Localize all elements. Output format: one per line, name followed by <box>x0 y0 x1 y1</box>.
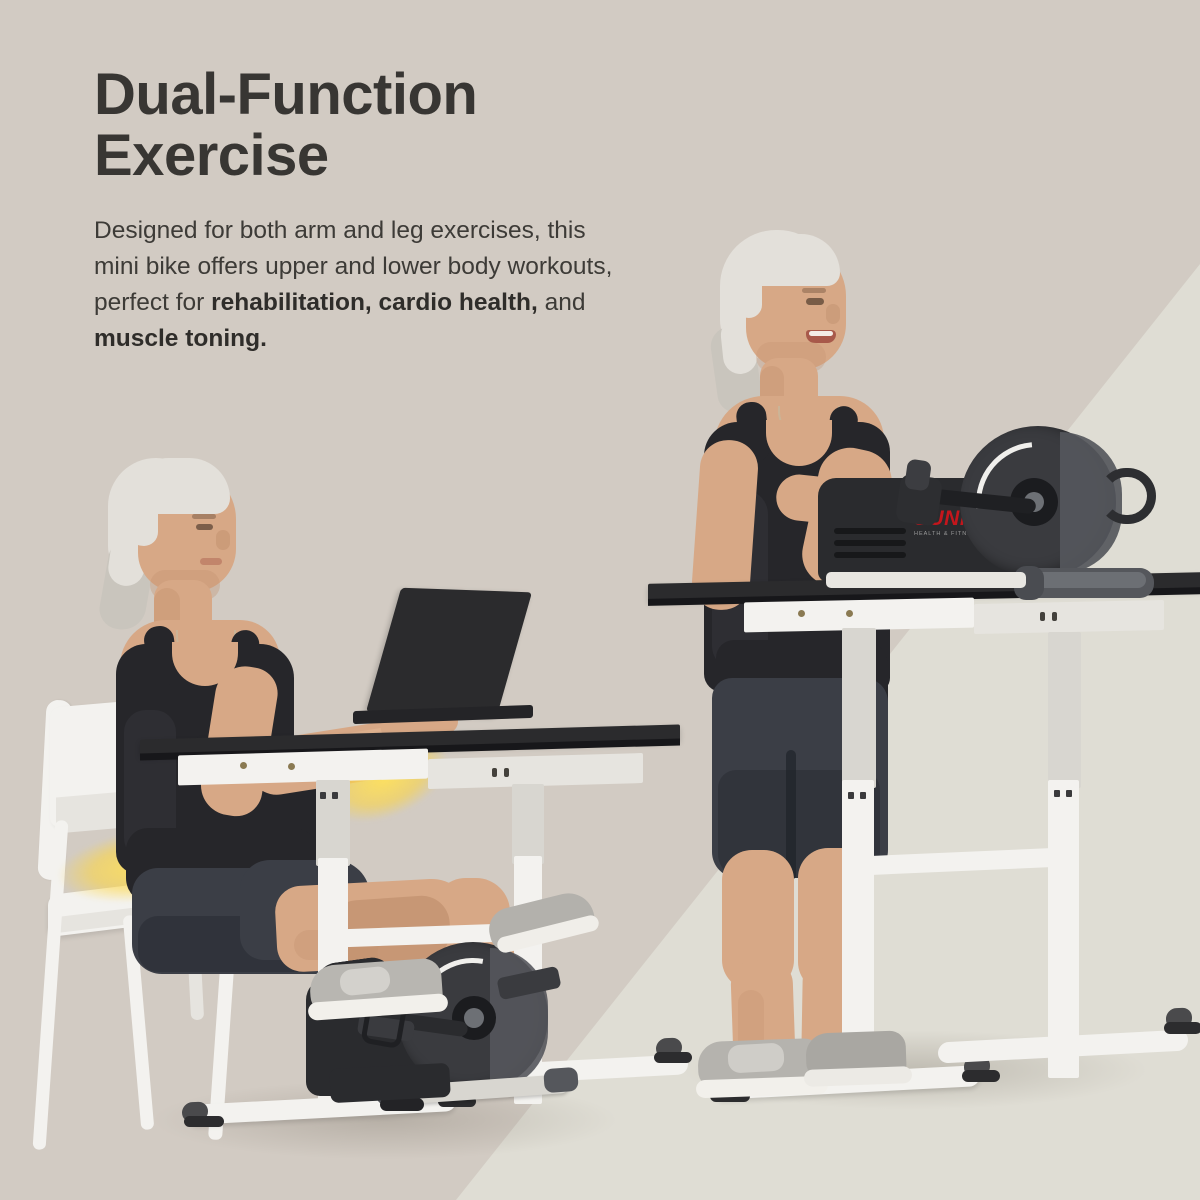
scene-seated-leg-workout: Seated user pedaling with legs under a s… <box>0 430 700 1200</box>
stabilizer-cap-right <box>543 1067 579 1093</box>
gray-sneakers <box>698 1030 928 1110</box>
page-title: Dual-Function Exercise <box>94 64 634 187</box>
bike-base-plate <box>826 572 1026 588</box>
desk-leg-upper-right <box>512 784 544 864</box>
body-emphasis-1: rehabilitation, cardio health, <box>211 289 538 316</box>
hand-pedal-far[interactable] <box>1098 468 1156 524</box>
desk-frame-left <box>178 749 428 786</box>
body-emphasis-2: muscle toning. <box>94 325 267 352</box>
body-paragraph: Designed for both arm and leg exercises,… <box>94 213 619 357</box>
headline-line-2: Exercise <box>94 125 634 186</box>
body-mid: and <box>538 289 586 316</box>
mini-bike-desktop[interactable]: Under Desk Mini Exercise Bike SUNNY HEAL… <box>810 420 1170 600</box>
laptop[interactable] <box>345 590 545 740</box>
laptop-screen <box>366 588 532 717</box>
desk-crossbar <box>854 847 1070 875</box>
scene-standing-arm-workout: Standing user cranking the mini bike pla… <box>620 230 1200 1200</box>
desk-leg-upper-left <box>842 628 876 788</box>
desk-frame-right <box>974 600 1164 634</box>
desk-leg-lower-right <box>1048 780 1079 1078</box>
gray-sneakers <box>300 900 600 1050</box>
product-feature-banner: Dual-Function Exercise Designed for both… <box>0 0 1200 1200</box>
desk-leg-upper-right <box>1048 632 1081 788</box>
headline-line-1: Dual-Function <box>94 62 477 127</box>
copy-block: Dual-Function Exercise Designed for both… <box>94 64 634 357</box>
